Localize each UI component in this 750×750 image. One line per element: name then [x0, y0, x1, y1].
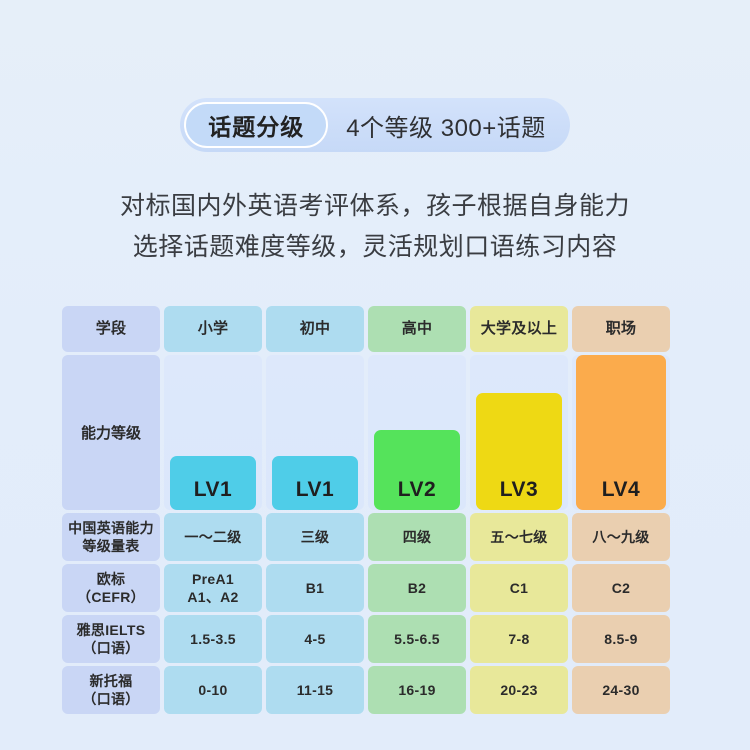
bar-lv1-juniorhigh: LV1: [272, 456, 358, 510]
bar-lv2-seniorhigh: LV2: [374, 430, 460, 510]
chart-column-seniorhigh: LV2: [368, 355, 466, 510]
column-header-workplace: 职场: [572, 306, 670, 352]
chart-column-workplace: LV4: [572, 355, 670, 510]
badge-outer: 话题分级 4个等级 300+话题: [180, 98, 570, 152]
intro-line-1: 对标国内外英语考评体系，孩子根据自身能力: [0, 186, 750, 227]
chart-row-label: 能力等级: [62, 355, 160, 510]
header-badge: 话题分级 4个等级 300+话题: [0, 98, 750, 152]
row-label-toefl-line1: 新托福: [90, 672, 133, 690]
badge-subtitle: 4个等级 300+话题: [328, 108, 546, 143]
bar-lv1-primary: LV1: [170, 456, 256, 510]
cell-toefl-workplace: 24-30: [572, 666, 670, 714]
cell-cefr-primary: PreA1 A1、A2: [164, 564, 262, 612]
cell-cefr-juniorhigh: B1: [266, 564, 364, 612]
column-header-juniorhigh: 初中: [266, 306, 364, 352]
row-label-cefr-line1: 欧标: [97, 570, 126, 588]
row-label-cefr-line2: （CEFR）: [77, 588, 145, 606]
cell-ielts-primary: 1.5-3.5: [164, 615, 262, 663]
cell-cefr-primary-line1: PreA1: [192, 570, 234, 588]
row-label-toefl: 新托福 （口语）: [62, 666, 160, 714]
column-header-seniorhigh: 高中: [368, 306, 466, 352]
row-label-cse-line1: 中国英语能力: [68, 519, 154, 537]
cell-cefr-workplace: C2: [572, 564, 670, 612]
chart-column-juniorhigh: LV1: [266, 355, 364, 510]
table-row: 雅思IELTS （口语） 1.5-3.5 4-5 5.5-6.5 7-8 8.5…: [62, 615, 686, 663]
bar-lv3-university: LV3: [476, 393, 562, 510]
column-header-university: 大学及以上: [470, 306, 568, 352]
cell-cefr-university: C1: [470, 564, 568, 612]
page-root: 话题分级 4个等级 300+话题 对标国内外英语考评体系，孩子根据自身能力 选择…: [0, 0, 750, 750]
cell-toefl-seniorhigh: 16-19: [368, 666, 466, 714]
badge-pill: 话题分级: [184, 102, 328, 148]
cell-ielts-university: 7-8: [470, 615, 568, 663]
cell-ielts-workplace: 8.5-9: [572, 615, 670, 663]
cell-cse-seniorhigh: 四级: [368, 513, 466, 561]
badge-pill-label: 话题分级: [208, 108, 304, 142]
table-row: 新托福 （口语） 0-10 11-15 16-19 20-23 24-30: [62, 666, 686, 714]
chart-column-university: LV3: [470, 355, 568, 510]
cell-ielts-juniorhigh: 4-5: [266, 615, 364, 663]
cell-ielts-seniorhigh: 5.5-6.5: [368, 615, 466, 663]
cell-cse-workplace: 八～九级: [572, 513, 670, 561]
intro-line-2: 选择话题难度等级，灵活规划口语练习内容: [0, 227, 750, 268]
row-label-cefr: 欧标 （CEFR）: [62, 564, 160, 612]
intro-paragraph: 对标国内外英语考评体系，孩子根据自身能力 选择话题难度等级，灵活规划口语练习内容: [0, 186, 750, 268]
row-label-toefl-line2: （口语）: [82, 690, 139, 708]
bar-lv4-workplace: LV4: [576, 355, 666, 510]
table-header-row: 学段 小学 初中 高中 大学及以上 职场: [62, 306, 686, 352]
row-label-ielts: 雅思IELTS （口语）: [62, 615, 160, 663]
row-label-ielts-line2: （口语）: [82, 639, 139, 657]
ability-level-chart: 能力等级 LV1 LV1 LV2 LV3 LV4: [62, 355, 686, 510]
cell-cse-university: 五～七级: [470, 513, 568, 561]
row-label-cse-line2: 等级量表: [82, 537, 139, 555]
column-header-primary: 小学: [164, 306, 262, 352]
table-row: 欧标 （CEFR） PreA1 A1、A2 B1 B2 C1 C2: [62, 564, 686, 612]
cell-toefl-juniorhigh: 11-15: [266, 666, 364, 714]
row-label-cse: 中国英语能力 等级量表: [62, 513, 160, 561]
cell-cefr-seniorhigh: B2: [368, 564, 466, 612]
cell-toefl-university: 20-23: [470, 666, 568, 714]
chart-column-primary: LV1: [164, 355, 262, 510]
cell-cse-juniorhigh: 三级: [266, 513, 364, 561]
level-comparison-table: 学段 小学 初中 高中 大学及以上 职场 能力等级 LV1 LV1 LV2 LV…: [62, 306, 686, 717]
cell-toefl-primary: 0-10: [164, 666, 262, 714]
row-label-ielts-line1: 雅思IELTS: [77, 621, 146, 639]
table-row: 中国英语能力 等级量表 一～二级 三级 四级 五～七级 八～九级: [62, 513, 686, 561]
cell-cse-primary: 一～二级: [164, 513, 262, 561]
table-corner-header: 学段: [62, 306, 160, 352]
cell-cefr-primary-line2: A1、A2: [187, 588, 238, 606]
